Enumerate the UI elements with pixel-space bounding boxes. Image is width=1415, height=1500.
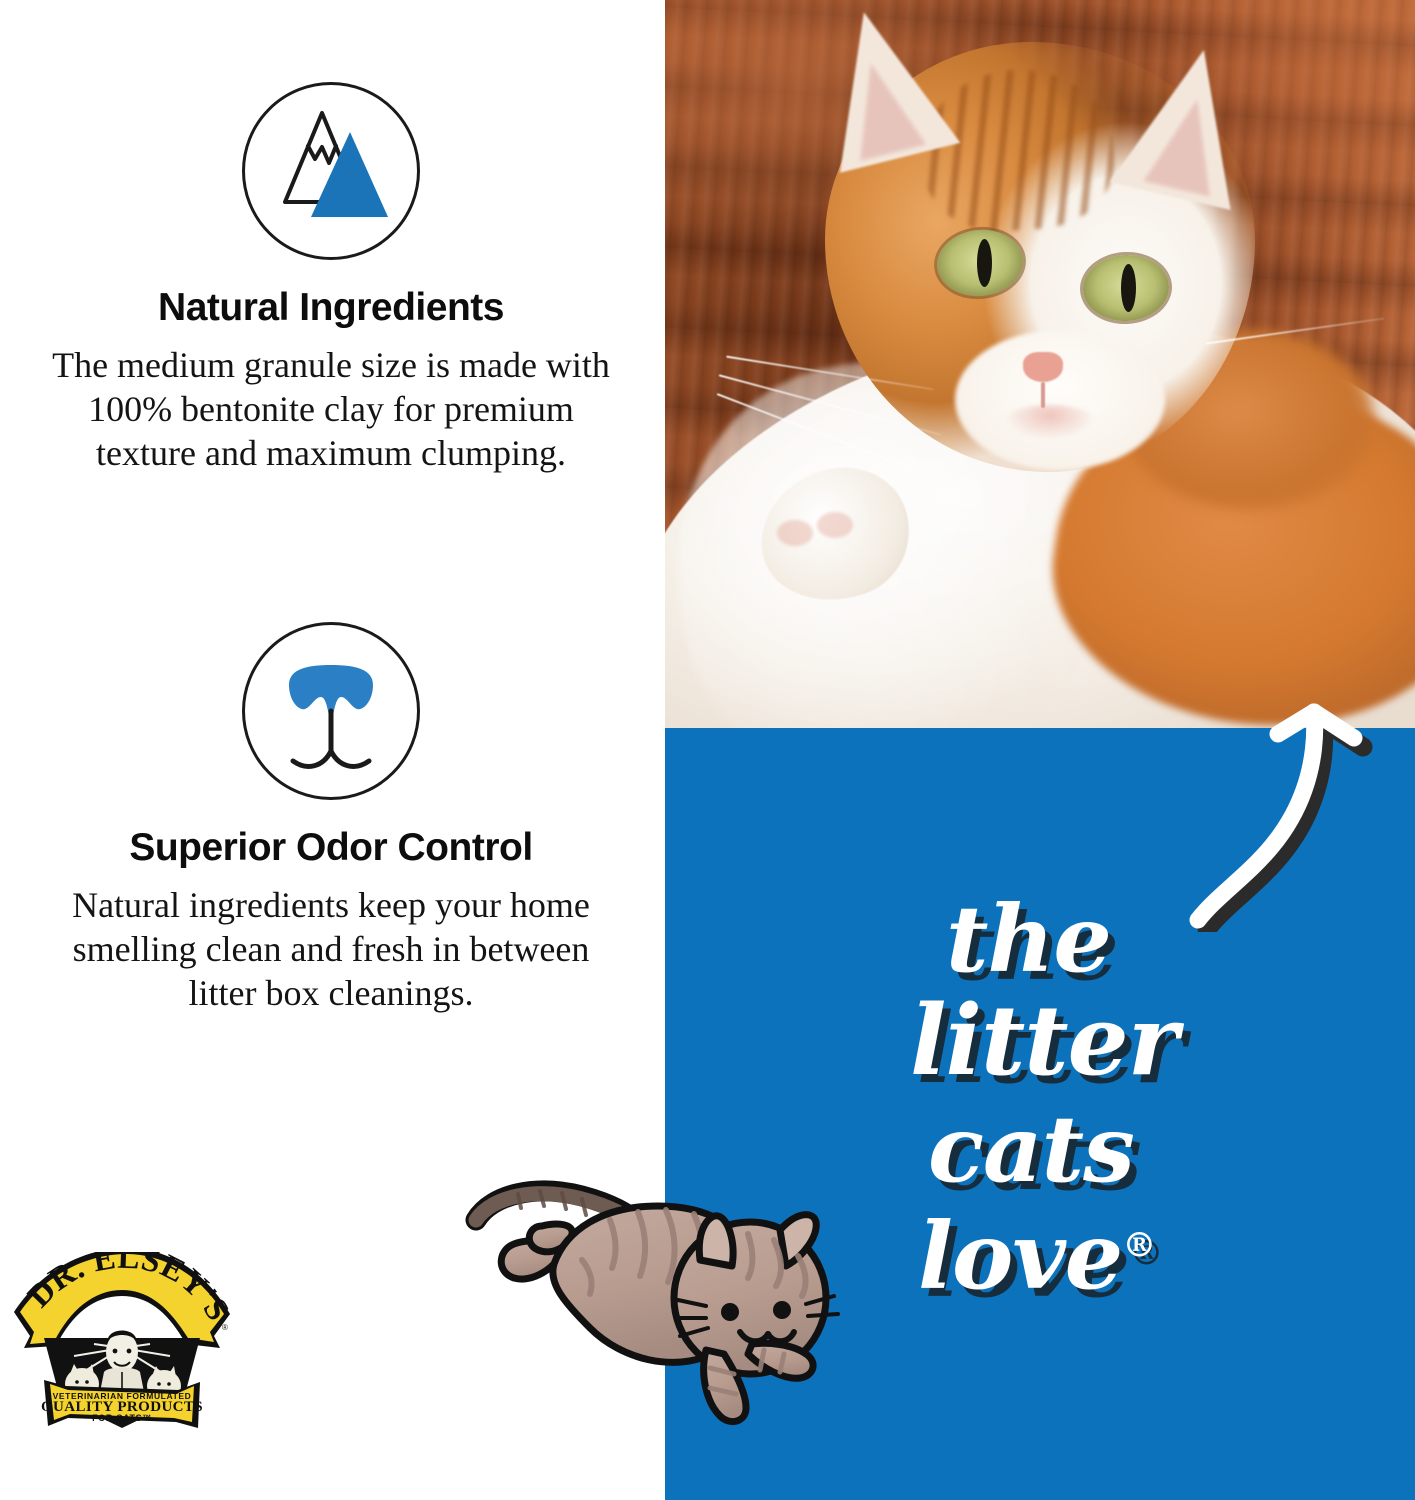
cat-photo [665,0,1415,728]
promo-script-line-4-wrap: love® [918,1212,1270,1300]
mountain-icon [242,82,420,260]
product-feature-panel: the litter cats love® Natural Ingredient… [0,0,1415,1500]
leaping-cat-illustration [462,1168,852,1438]
cat-photo-muzzle [955,330,1165,470]
promo-script-line-3: cats [928,1105,1270,1193]
promo-script-line-4: love [918,1202,1122,1310]
feature-title: Natural Ingredients [0,286,662,330]
cat-photo-paw-toe [817,512,853,538]
promo-script-lockup: the litter cats love® [940,895,1270,1300]
promo-script-line-1: the [946,895,1270,983]
svg-text:®: ® [222,1323,228,1332]
feature-superior-odor-control: Superior Odor Control Natural ingredient… [0,622,662,1016]
cat-photo-nose [1023,352,1063,382]
promo-script-line-2: litter [910,995,1270,1087]
cat-photo-chin [1005,405,1095,439]
cat-photo-paw-toe [777,520,813,546]
feature-body: Natural ingredients keep your home smell… [51,884,611,1016]
cat-photo-pupil-left [977,239,992,287]
cat-nose-icon [242,622,420,800]
cat-photo-pupil-right [1121,264,1136,312]
feature-body: The medium granule size is made with 100… [51,344,611,476]
registered-mark: ® [1122,1225,1156,1265]
feature-natural-ingredients: Natural Ingredients The medium granule s… [0,82,662,476]
dr-elseys-logo: DR. ELSEY'S ® [8,1252,236,1434]
logo-tagline-line3: FOR CATS™ [92,1413,152,1423]
feature-title: Superior Odor Control [0,826,662,870]
